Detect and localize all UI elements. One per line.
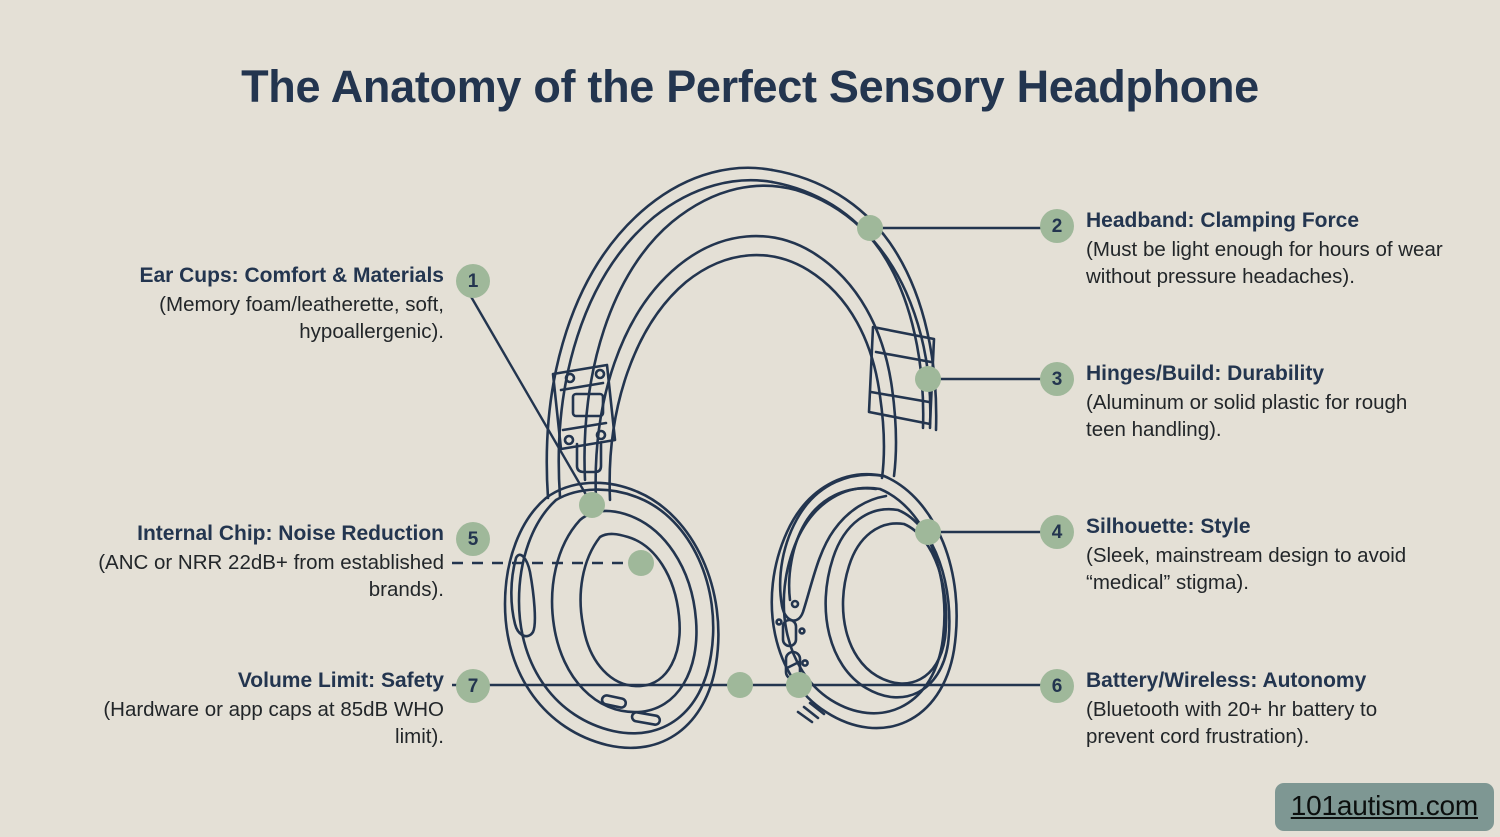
callout-2: 2 Headband: Clamping Force (Must be ligh… xyxy=(1040,207,1446,290)
anchor-dot-5 xyxy=(628,550,654,576)
callout-desc-7: (Hardware or app caps at 85dB WHO limit)… xyxy=(84,696,444,751)
callout-7: 7 Volume Limit: Safety (Hardware or app … xyxy=(84,667,490,750)
callout-desc-3: (Aluminum or solid plastic for rough tee… xyxy=(1086,389,1446,444)
callout-6: 6 Battery/Wireless: Autonomy (Bluetooth … xyxy=(1040,667,1446,750)
callout-badge-2: 2 xyxy=(1040,209,1074,243)
anchor-dot-4 xyxy=(915,519,941,545)
callout-badge-3: 3 xyxy=(1040,362,1074,396)
callout-badge-7: 7 xyxy=(456,669,490,703)
callout-title-3: Hinges/Build: Durability xyxy=(1086,360,1446,388)
callout-desc-2: (Must be light enough for hours of wear … xyxy=(1086,236,1446,291)
callout-title-4: Silhouette: Style xyxy=(1086,513,1446,541)
anchor-dot-1 xyxy=(579,492,605,518)
callout-badge-1: 1 xyxy=(456,264,490,298)
infographic-canvas: The Anatomy of the Perfect Sensory Headp… xyxy=(0,0,1500,837)
anchor-dots xyxy=(579,215,941,698)
anchor-dot-7 xyxy=(727,672,753,698)
watermark-text: 101autism.com xyxy=(1291,790,1478,822)
callout-title-5: Internal Chip: Noise Reduction xyxy=(84,520,444,548)
callout-badge-5: 5 xyxy=(456,522,490,556)
anchor-dot-2 xyxy=(857,215,883,241)
callout-badge-4: 4 xyxy=(1040,515,1074,549)
callout-title-1: Ear Cups: Comfort & Materials xyxy=(84,262,444,290)
callout-1: 1 Ear Cups: Comfort & Materials (Memory … xyxy=(84,262,490,345)
callout-5: 5 Internal Chip: Noise Reduction (ANC or… xyxy=(84,520,490,603)
callout-title-6: Battery/Wireless: Autonomy xyxy=(1086,667,1446,695)
callout-title-2: Headband: Clamping Force xyxy=(1086,207,1446,235)
callout-title-7: Volume Limit: Safety xyxy=(84,667,444,695)
callout-desc-1: (Memory foam/leatherette, soft, hypoalle… xyxy=(84,291,444,346)
watermark-badge[interactable]: 101autism.com xyxy=(1275,783,1494,831)
callout-desc-4: (Sleek, mainstream design to avoid “medi… xyxy=(1086,542,1446,597)
callout-badge-6: 6 xyxy=(1040,669,1074,703)
anchor-dot-3 xyxy=(915,366,941,392)
callout-3: 3 Hinges/Build: Durability (Aluminum or … xyxy=(1040,360,1446,443)
callout-desc-5: (ANC or NRR 22dB+ from established brand… xyxy=(84,549,444,604)
callout-desc-6: (Bluetooth with 20+ hr battery to preven… xyxy=(1086,696,1446,751)
callout-4: 4 Silhouette: Style (Sleek, mainstream d… xyxy=(1040,513,1446,596)
anchor-dot-6 xyxy=(786,672,812,698)
